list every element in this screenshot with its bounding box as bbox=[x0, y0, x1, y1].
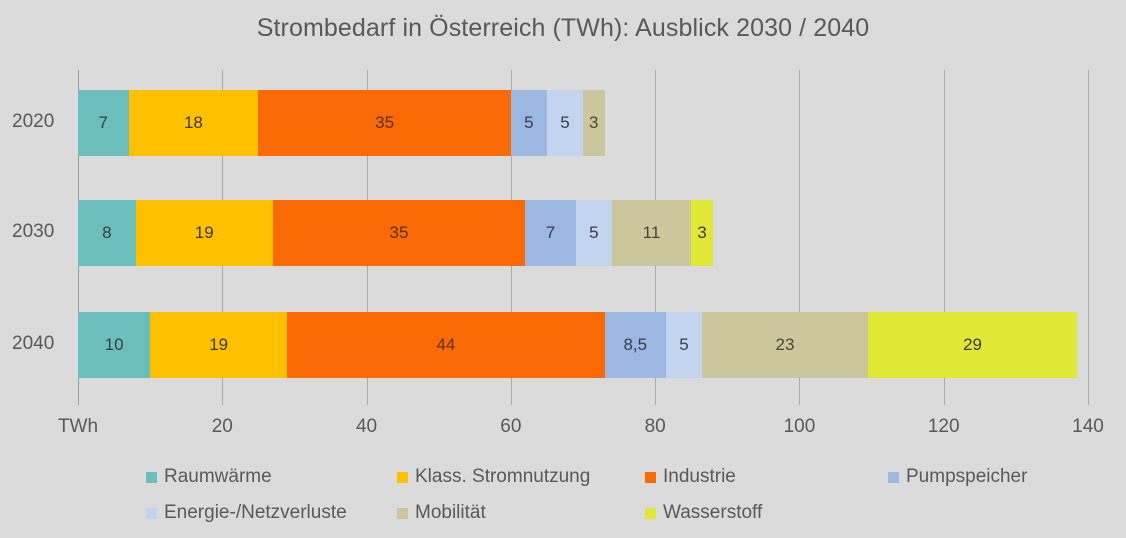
bar-segment: 19 bbox=[136, 200, 273, 266]
bar-segment: 7 bbox=[525, 200, 576, 266]
legend-item-label: Mobilität bbox=[415, 502, 486, 524]
legend-swatch-icon bbox=[397, 472, 408, 483]
gridline-140 bbox=[1088, 70, 1089, 405]
x-axis-tick-140: 140 bbox=[1072, 416, 1104, 438]
bar-segment: 3 bbox=[691, 200, 713, 266]
bar-segment: 8,5 bbox=[605, 312, 666, 378]
legend-item[interactable]: Wasserstoff bbox=[645, 502, 762, 524]
legend-item-label: Klass. Stromnutzung bbox=[415, 466, 590, 488]
plot-area: 7183555381935751131019448,552329 bbox=[78, 70, 1088, 405]
legend-item[interactable]: Energie-/Netzverluste bbox=[146, 502, 347, 524]
legend-item-label: Wasserstoff bbox=[663, 502, 762, 524]
legend-item-label: Industrie bbox=[663, 466, 736, 488]
legend-swatch-icon bbox=[397, 508, 408, 519]
bar-segment: 44 bbox=[287, 312, 604, 378]
x-axis-tick-80: 80 bbox=[645, 416, 666, 438]
bar-segment: 5 bbox=[666, 312, 702, 378]
legend-item-label: Energie-/Netzverluste bbox=[164, 502, 347, 524]
legend-item[interactable]: Klass. Stromnutzung bbox=[397, 466, 590, 488]
x-axis-tick-60: 60 bbox=[500, 416, 521, 438]
y-axis-label-2020: 2020 bbox=[12, 111, 70, 133]
y-axis-label-2030: 2030 bbox=[12, 221, 70, 243]
x-axis-tick-20: 20 bbox=[212, 416, 233, 438]
legend-swatch-icon bbox=[146, 472, 157, 483]
chart-legend: RaumwärmeKlass. StromnutzungIndustriePum… bbox=[0, 462, 1126, 538]
x-axis-tick-100: 100 bbox=[784, 416, 816, 438]
legend-swatch-icon bbox=[888, 472, 899, 483]
x-axis-tick-40: 40 bbox=[356, 416, 377, 438]
bar-row-2040: 1019448,552329 bbox=[78, 312, 1077, 378]
legend-swatch-icon bbox=[146, 508, 157, 519]
legend-item-label: Pumpspeicher bbox=[906, 466, 1027, 488]
bar-segment: 7 bbox=[78, 90, 129, 156]
legend-item[interactable]: Raumwärme bbox=[146, 466, 272, 488]
legend-swatch-icon bbox=[645, 508, 656, 519]
legend-item[interactable]: Pumpspeicher bbox=[888, 466, 1027, 488]
legend-item[interactable]: Mobilität bbox=[397, 502, 486, 524]
bar-segment: 10 bbox=[78, 312, 150, 378]
bar-segment: 8 bbox=[78, 200, 136, 266]
x-axis-tick-120: 120 bbox=[928, 416, 960, 438]
bar-segment: 29 bbox=[868, 312, 1077, 378]
chart-container: Strombedarf in Österreich (TWh): Ausblic… bbox=[0, 0, 1126, 538]
bar-row-2020: 71835553 bbox=[78, 90, 605, 156]
bar-segment: 5 bbox=[547, 90, 583, 156]
legend-item-label: Raumwärme bbox=[164, 466, 272, 488]
bar-segment: 35 bbox=[273, 200, 526, 266]
bar-segment: 19 bbox=[150, 312, 287, 378]
legend-swatch-icon bbox=[645, 472, 656, 483]
chart-title: Strombedarf in Österreich (TWh): Ausblic… bbox=[0, 14, 1126, 43]
bar-segment: 11 bbox=[612, 200, 691, 266]
bar-segment: 18 bbox=[129, 90, 259, 156]
x-axis-unit-label: TWh bbox=[58, 416, 98, 438]
legend-item[interactable]: Industrie bbox=[645, 466, 736, 488]
bar-row-2030: 8193575113 bbox=[78, 200, 713, 266]
bar-segment: 3 bbox=[583, 90, 605, 156]
bar-segment: 5 bbox=[511, 90, 547, 156]
y-axis-label-2040: 2040 bbox=[12, 333, 70, 355]
bar-segment: 5 bbox=[576, 200, 612, 266]
bar-segment: 35 bbox=[258, 90, 511, 156]
bar-segment: 23 bbox=[702, 312, 868, 378]
